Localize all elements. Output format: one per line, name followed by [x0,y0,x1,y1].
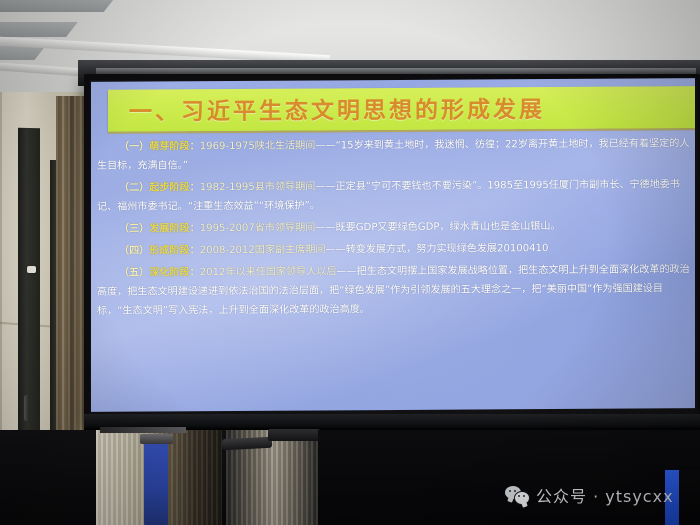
wechat-bubble-front [514,491,530,505]
section-period: 1995-2007省市领导期间 [200,222,316,234]
wechat-eye [523,495,525,497]
section-period: 2008-2012国家副主席期间 [200,244,326,256]
section-label: 形成阶段 [149,245,189,256]
slide-section-1: （一）萌芽阶段：1969-1975陕北生活期间——“15岁来到黄土地时，我迷惘、… [91,134,695,176]
section-period: 2012年以来任国家领导人以后 [200,266,337,278]
section-sep: ： [190,267,200,278]
slide-body: （一）萌芽阶段：1969-1975陕北生活期间——“15岁来到黄土地时，我迷惘、… [91,134,695,324]
section-dash: —— [336,266,356,277]
ceiling-baffle [0,0,116,12]
section-dash: —— [315,140,335,151]
section-label: 起步阶段 [149,182,189,193]
section-content: 既要GDP又要绿色GDP，绿水青山也是金山银山。 [336,221,561,233]
section-dash: —— [315,222,335,233]
watermark: 公众号 · ytsycxx [505,483,674,507]
wechat-icon [505,486,529,504]
slide-title: 一、习近平生态文明思想的形成发展 [129,89,689,126]
section-marker: （二） [119,182,149,193]
dark-edge-strip [679,470,700,525]
wechat-eye [509,490,511,492]
section-dash: —— [325,244,345,255]
watermark-text: 公众号 · ytsycxx [536,483,674,507]
wechat-eye [514,490,516,492]
slide-section-5: （五）深化阶段：2012年以来任国家领导人以后——把生态文明摆上国家发展战略位置… [91,260,695,321]
section-marker: （五） [119,267,149,278]
presentation-slide: 一、习近平生态文明思想的形成发展 （一）萌芽阶段：1969-1975陕北生活期间… [91,78,695,412]
section-sep: ： [190,182,200,193]
section-period: 1969-1975陕北生活期间 [200,140,316,152]
section-marker: （四） [119,245,149,256]
section-label: 萌芽阶段 [149,141,189,152]
section-period: 1982-1995县市领导期间 [200,181,316,193]
ceiling-baffle [0,46,45,60]
dark-background-right [318,430,700,525]
blue-cabinet-top [140,434,173,444]
shelf-edge [100,427,186,433]
ceiling-baffle [0,22,78,37]
slide-section-2: （二）起步阶段：1982-1995县市领导期间——正定县“宁可不要钱也不要污染”… [91,175,695,217]
door-handle [24,395,29,421]
tv-mount-bracket [268,429,320,441]
section-sep: ： [190,245,200,256]
blue-cabinet [144,440,168,525]
wall-switch [27,266,36,273]
slide-section-3: （三）发展阶段：1995-2007省市领导期间——既要GDP又要绿色GDP，绿水… [91,216,695,239]
section-label: 深化阶段 [149,267,189,278]
section-marker: （三） [119,223,149,234]
section-dash: —— [315,181,335,192]
section-marker: （一） [119,141,149,152]
section-sep: ： [190,141,200,152]
section-content: 转变发展方式，努力实现绿色发展20100410 [346,243,549,255]
section-sep: ： [190,223,200,234]
wechat-eye [518,495,520,497]
photo-scene: 一、习近平生态文明思想的形成发展 （一）萌芽阶段：1969-1975陕北生活期间… [0,0,700,525]
slide-section-4: （四）形成阶段：2008-2012国家副主席期间——转变发展方式，努力实现绿色发… [91,238,695,261]
section-label: 发展阶段 [149,223,189,234]
